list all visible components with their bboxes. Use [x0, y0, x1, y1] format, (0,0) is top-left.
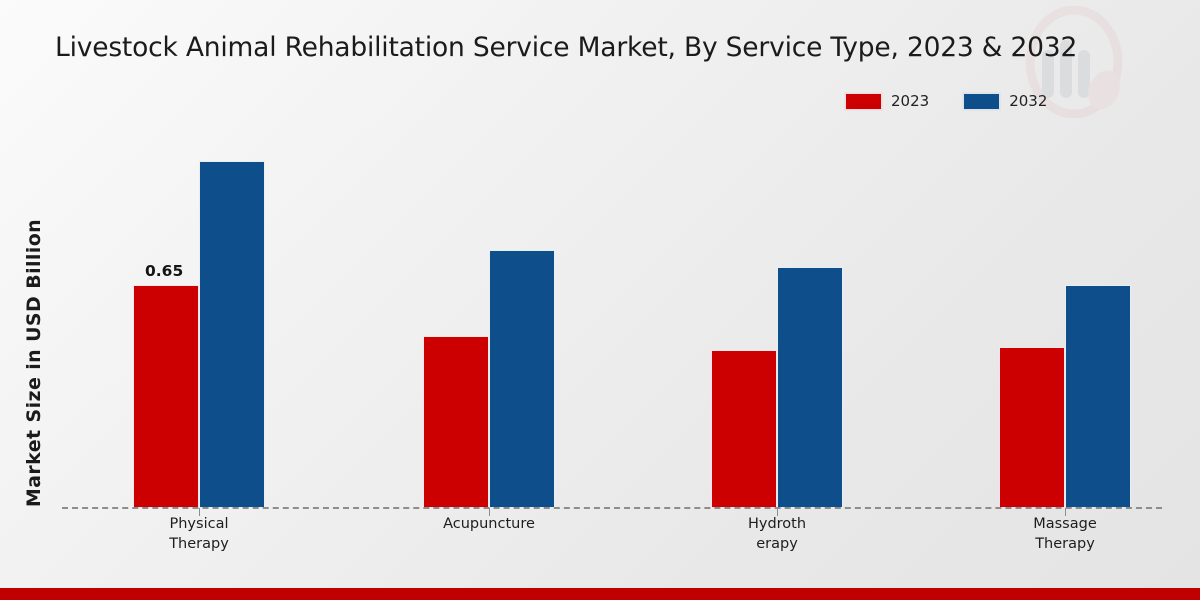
bar-2032-hydrotherapy[interactable]: [777, 267, 843, 508]
chart-container: Livestock Animal Rehabilitation Service …: [0, 0, 1200, 600]
bar-2032-massage-therapy[interactable]: [1065, 285, 1131, 508]
chart-title: Livestock Animal Rehabilitation Service …: [55, 30, 1145, 65]
legend-item-2023[interactable]: 2023: [845, 92, 929, 110]
plot-area: 0.65: [62, 130, 1162, 508]
x-axis-label-hydrotherapy: Hydrotherapy: [682, 514, 872, 554]
x-axis-label-massage-therapy: MassageTherapy: [970, 514, 1160, 554]
x-axis-label-acupuncture: Acupuncture: [394, 514, 584, 534]
legend-item-2032[interactable]: 2032: [963, 92, 1047, 110]
bar-2032-acupuncture[interactable]: [489, 250, 555, 508]
bar-2032-physical-therapy[interactable]: [199, 161, 265, 508]
bar-value-label: 0.65: [145, 262, 183, 280]
legend-swatch-2023: [845, 93, 882, 110]
legend-label-2032: 2032: [1009, 92, 1047, 110]
chart-legend: 2023 2032: [845, 92, 1047, 110]
bar-2023-physical-therapy[interactable]: [133, 285, 199, 508]
x-axis-baseline: [62, 507, 1162, 509]
bar-2023-massage-therapy[interactable]: [999, 347, 1065, 509]
legend-label-2023: 2023: [891, 92, 929, 110]
legend-swatch-2032: [963, 93, 1000, 110]
y-axis-title: Market Size in USD Billion: [23, 198, 45, 528]
bar-2023-hydrotherapy[interactable]: [711, 350, 777, 508]
bar-2023-acupuncture[interactable]: [423, 336, 489, 508]
x-axis-label-physical-therapy: PhysicalTherapy: [104, 514, 294, 554]
footer-accent-bar: [0, 588, 1200, 600]
